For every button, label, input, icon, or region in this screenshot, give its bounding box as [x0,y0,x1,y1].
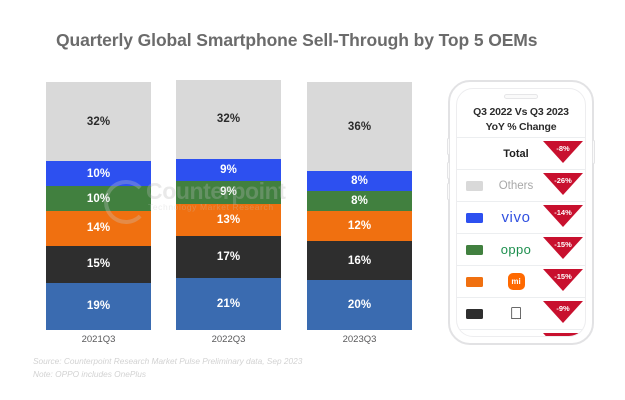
bar-segment-value: 16% [348,255,371,267]
legend-change-cell: -26% [541,170,585,201]
bar-segment-apple: 16% [307,241,412,281]
phone-speaker-icon [504,94,538,99]
down-triangle-icon: -14% [543,205,583,227]
legend-panel: Q3 2022 Vs Q3 2023 YoY % Change Total-8%… [456,88,586,337]
bar-segment-oppo: 9% [176,181,281,203]
legend-phone-frame: Q3 2022 Vs Q3 2023 YoY % Change Total-8%… [448,80,594,345]
legend-row-total[interactable]: Total-8% [457,137,585,169]
bar-segment-value: 15% [87,258,110,270]
down-triangle-icon: -26% [543,173,583,195]
x-axis-label: 2021Q3 [46,334,151,345]
phone-volume-up-button [447,162,450,179]
x-axis-label: 2023Q3 [307,334,412,345]
bar-segment-samsung: 19% [46,283,151,330]
bar-segment-value: 20% [348,299,371,311]
bar-segment-value: 10% [87,193,110,205]
bar-segment-apple: 17% [176,236,281,278]
legend-swatch-cell [457,181,491,191]
legend-swatch-cell [457,213,491,223]
bar-segment-vivo: 9% [176,159,281,181]
legend-label-others: Others [499,180,534,192]
legend-brand-xiaomi: mi [491,266,541,297]
yoy-change-value: -15% [543,272,583,281]
down-triangle-icon: -15% [543,237,583,259]
bar-segment-value: 8% [351,175,368,187]
yoy-change-value: -9% [543,304,583,313]
down-triangle-icon: -13% [543,333,583,337]
phone-mute-switch [447,138,450,155]
yoy-change-value: -15% [543,240,583,249]
bar-segment-oppo: 10% [46,186,151,211]
bar-segment-value: 9% [220,186,237,198]
bar-segment-others: 32% [176,80,281,159]
footnote-note: Note: OPPO includes OnePlus [33,369,146,379]
bar-segment-value: 21% [217,298,240,310]
bar-stack: 21%17%13%9%9%32% [176,82,281,330]
bar-segment-vivo: 10% [46,161,151,186]
bar-segment-others: 36% [307,82,412,171]
bar-segment-value: 13% [217,214,240,226]
legend-row-vivo[interactable]: vivo-14% [457,201,585,233]
legend-change-cell: -15% [541,234,585,265]
bar-segment-value: 36% [348,121,371,133]
bar-segment-others: 32% [46,82,151,161]
bar-segment-value: 19% [87,300,110,312]
legend-change-cell: -13% [542,330,585,337]
legend-heading: Q3 2022 Vs Q3 2023 YoY % Change [457,105,585,134]
yoy-change-value: -26% [543,176,583,185]
legend-row-list: Total-8%Others-26%vivo-14%oppo-15%mi-15%… [457,137,585,337]
down-triangle-icon: -9% [543,301,583,323]
legend-row-xiaomi[interactable]: mi-15% [457,265,585,297]
bar-segment-value: 9% [220,164,237,176]
yoy-change-value: -14% [543,208,583,217]
chart-root: Quarterly Global Smartphone Sell-Through… [0,0,625,400]
legend-swatch-oppo [466,245,483,255]
legend-row-samsung[interactable]: SAMSUNG-13% [457,329,585,337]
yoy-change-value: -8% [543,144,583,153]
down-triangle-shape [543,333,583,337]
legend-change-cell: -8% [541,138,585,169]
bar-segment-value: 12% [348,220,371,232]
oppo-logo: oppo [501,242,532,257]
legend-row-others[interactable]: Others-26% [457,169,585,201]
legend-row-oppo[interactable]: oppo-15% [457,233,585,265]
bar-segment-xiaomi: 13% [176,204,281,236]
bar-segment-oppo: 8% [307,191,412,211]
x-axis-label: 2022Q3 [176,334,281,345]
bar-segment-value: 32% [87,116,110,128]
legend-swatch-cell [457,245,491,255]
bar-segment-samsung: 21% [176,278,281,330]
legend-change-cell: -14% [541,202,585,233]
legend-brand-samsung: SAMSUNG [490,330,542,337]
phone-volume-down-button [447,183,450,200]
xiaomi-mi-logo-icon: mi [508,273,525,290]
legend-swatch-apple [466,309,483,319]
bar-segment-vivo: 8% [307,171,412,191]
bar-stack: 19%15%14%10%10%32% [46,82,151,330]
legend-swatch-vivo [466,213,483,223]
legend-brand-apple:  [491,298,541,329]
bar-segment-apple: 15% [46,246,151,283]
legend-change-cell: -9% [541,298,585,329]
legend-swatch-cell [457,277,491,287]
bar-stack: 20%16%12%8%8%36% [307,82,412,330]
down-triangle-icon: -15% [543,269,583,291]
yoy-change-value: -13% [543,336,583,337]
bar-segment-xiaomi: 14% [46,211,151,246]
legend-brand-oppo: oppo [491,234,541,265]
vivo-logo: vivo [501,209,530,226]
bar-segment-xiaomi: 12% [307,211,412,241]
legend-brand-others: Others [491,170,541,201]
legend-swatch-xiaomi [466,277,483,287]
bar-segment-value: 32% [217,113,240,125]
down-triangle-icon: -8% [543,141,583,163]
legend-heading-line2: YoY % Change [457,120,585,135]
legend-brand-vivo: vivo [491,202,541,233]
phone-power-button [592,140,595,164]
legend-brand-total: Total [491,138,541,169]
legend-heading-line1: Q3 2022 Vs Q3 2023 [457,105,585,120]
bar-segment-value: 17% [217,251,240,263]
apple-logo-icon:  [510,305,523,322]
bar-segment-value: 8% [351,195,368,207]
source-note: Source: Counterpoint Research Market Pul… [33,356,302,366]
bar-segment-value: 10% [87,168,110,180]
bar-segment-value: 14% [87,222,110,234]
legend-row-apple[interactable]: -9% [457,297,585,329]
legend-swatch-others [466,181,483,191]
bar-segment-samsung: 20% [307,280,412,330]
legend-change-cell: -15% [541,266,585,297]
legend-swatch-cell [457,309,491,319]
stacked-bar-plot: 19%15%14%10%10%32% 2021Q3 21%17%13%9%9%3… [0,0,440,400]
